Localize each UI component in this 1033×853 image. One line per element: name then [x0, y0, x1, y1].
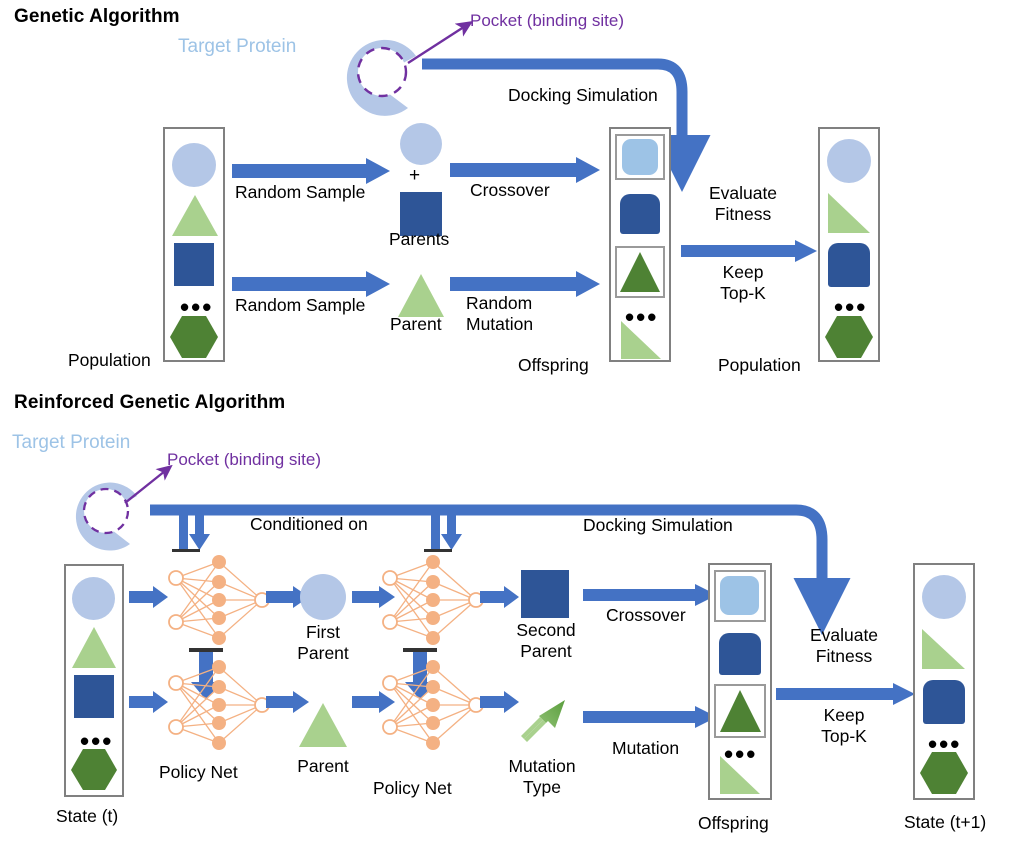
top-random-sample-arrow-1: [232, 158, 392, 184]
population-item-square: [174, 243, 214, 286]
top-parent-label: Parent: [390, 314, 442, 335]
population-item-circle: [172, 143, 216, 187]
state-item-triangle: [71, 626, 117, 669]
top-parents-label: Parents: [389, 229, 449, 250]
bottom-offspring-item-dark-blue: [719, 633, 761, 675]
top-offspring-label: Offspring: [518, 355, 589, 376]
top-parent-triangle: [396, 272, 446, 318]
result-item-right-triangle: [827, 192, 871, 234]
arrow-net3-to-second-parent: [480, 585, 520, 609]
policy-net-1-label: Policy Net: [159, 762, 238, 783]
top-target-protein-label: Target Protein: [178, 36, 296, 58]
top-random-sample-arrow-2: [232, 271, 392, 297]
state-t-label: State (t): [56, 806, 118, 827]
second-parent-label: Second Parent: [505, 620, 587, 662]
bottom-evaluate-fitness-label: Evaluate Fitness: [790, 625, 898, 667]
top-parent-circle: [400, 123, 442, 165]
next-state-item-right-triangle: [921, 628, 966, 670]
top-keep-topk-arrow: [681, 240, 818, 262]
top-result-ellipsis-icon: •••: [834, 302, 867, 312]
policy-net-2-icon: [164, 655, 274, 755]
offspring-item-right-triangle-light-green: [620, 320, 662, 360]
top-evaluate-fitness-label: Evaluate Fitness: [690, 183, 796, 225]
top-population-in-label: Population: [68, 350, 151, 371]
policy-net-3-label: Policy Net: [373, 778, 452, 799]
state-item-hexagon: [70, 748, 118, 791]
bottom-mutation-label: Mutation: [612, 738, 679, 759]
top-docking-label: Docking Simulation: [508, 85, 658, 106]
arrow-state-to-net3: [129, 690, 169, 714]
next-state-ellipsis-icon: •••: [928, 739, 961, 749]
bottom-offspring-item-right-triangle: [719, 755, 761, 795]
result-item-circle: [827, 139, 871, 183]
population-ellipsis-icon: •••: [180, 302, 213, 312]
top-keep-topk-label: Keep Top-K: [690, 262, 796, 304]
policy-net-1-icon: [164, 550, 274, 650]
parent-label: Parent: [283, 756, 363, 777]
top-population-out-label: Population: [718, 355, 801, 376]
state-t1-label: State (t+1): [904, 812, 986, 833]
population-item-triangle: [171, 193, 219, 237]
bottom-docking-label: Docking Simulation: [583, 515, 733, 536]
top-random-sample-label-1: Random Sample: [235, 182, 365, 203]
bottom-offspring-item-triangle: [719, 689, 762, 733]
bottom-conditioned-on-label: Conditioned on: [250, 514, 368, 535]
policy-net-4-icon: [378, 655, 488, 755]
result-item-hexagon: [824, 315, 874, 359]
top-random-mutation-label: Random Mutation: [466, 293, 533, 335]
second-parent-square: [521, 570, 569, 618]
bottom-mutation-arrow: [583, 705, 718, 729]
offspring-item-triangle-dark-green: [619, 251, 661, 293]
bottom-pocket-label: Pocket (binding site): [167, 450, 321, 470]
top-plus-sign: +: [409, 165, 420, 186]
diagram-canvas: Genetic Algorithm Target Protein Pocket …: [0, 0, 1033, 853]
bottom-keep-topk-arrow: [776, 683, 916, 705]
top-pocket-label: Pocket (binding site): [470, 11, 624, 31]
next-state-item-circle: [922, 575, 966, 619]
next-state-item-rounded-square: [923, 680, 965, 724]
state-item-circle: [72, 577, 115, 620]
state-item-square: [74, 675, 114, 718]
population-item-hexagon: [169, 315, 219, 359]
next-state-item-hexagon: [919, 751, 969, 795]
bottom-target-protein-label: Target Protein: [12, 432, 130, 454]
top-random-sample-label-2: Random Sample: [235, 295, 365, 316]
mutation-type-arrow-icon: [515, 692, 573, 750]
arrow-net4-to-mutation-type: [480, 690, 520, 714]
top-panel-title: Genetic Algorithm: [14, 6, 180, 28]
arrow-state-to-net1: [129, 585, 169, 609]
bottom-offspring-label: Offspring: [698, 813, 769, 834]
policy-net-3-icon: [378, 550, 488, 650]
top-crossover-label: Crossover: [470, 180, 550, 201]
result-item-rounded-square: [828, 243, 870, 287]
mutation-type-label: Mutation Type: [492, 756, 592, 798]
bottom-panel-title: Reinforced Genetic Algorithm: [14, 392, 285, 414]
first-parent-label: First Parent: [283, 622, 363, 664]
bottom-offspring-item-light-blue: [720, 576, 759, 615]
bottom-crossover-label: Crossover: [606, 605, 686, 626]
state-ellipsis-icon: •••: [80, 736, 113, 746]
offspring-item-rounded-square-dark-blue: [620, 194, 660, 234]
parent-triangle: [298, 702, 348, 748]
offspring-item-rounded-square-light-blue: [622, 139, 658, 175]
bottom-crossover-arrow: [583, 583, 718, 607]
bottom-keep-topk-label: Keep Top-K: [790, 705, 898, 747]
first-parent-circle: [300, 574, 346, 620]
